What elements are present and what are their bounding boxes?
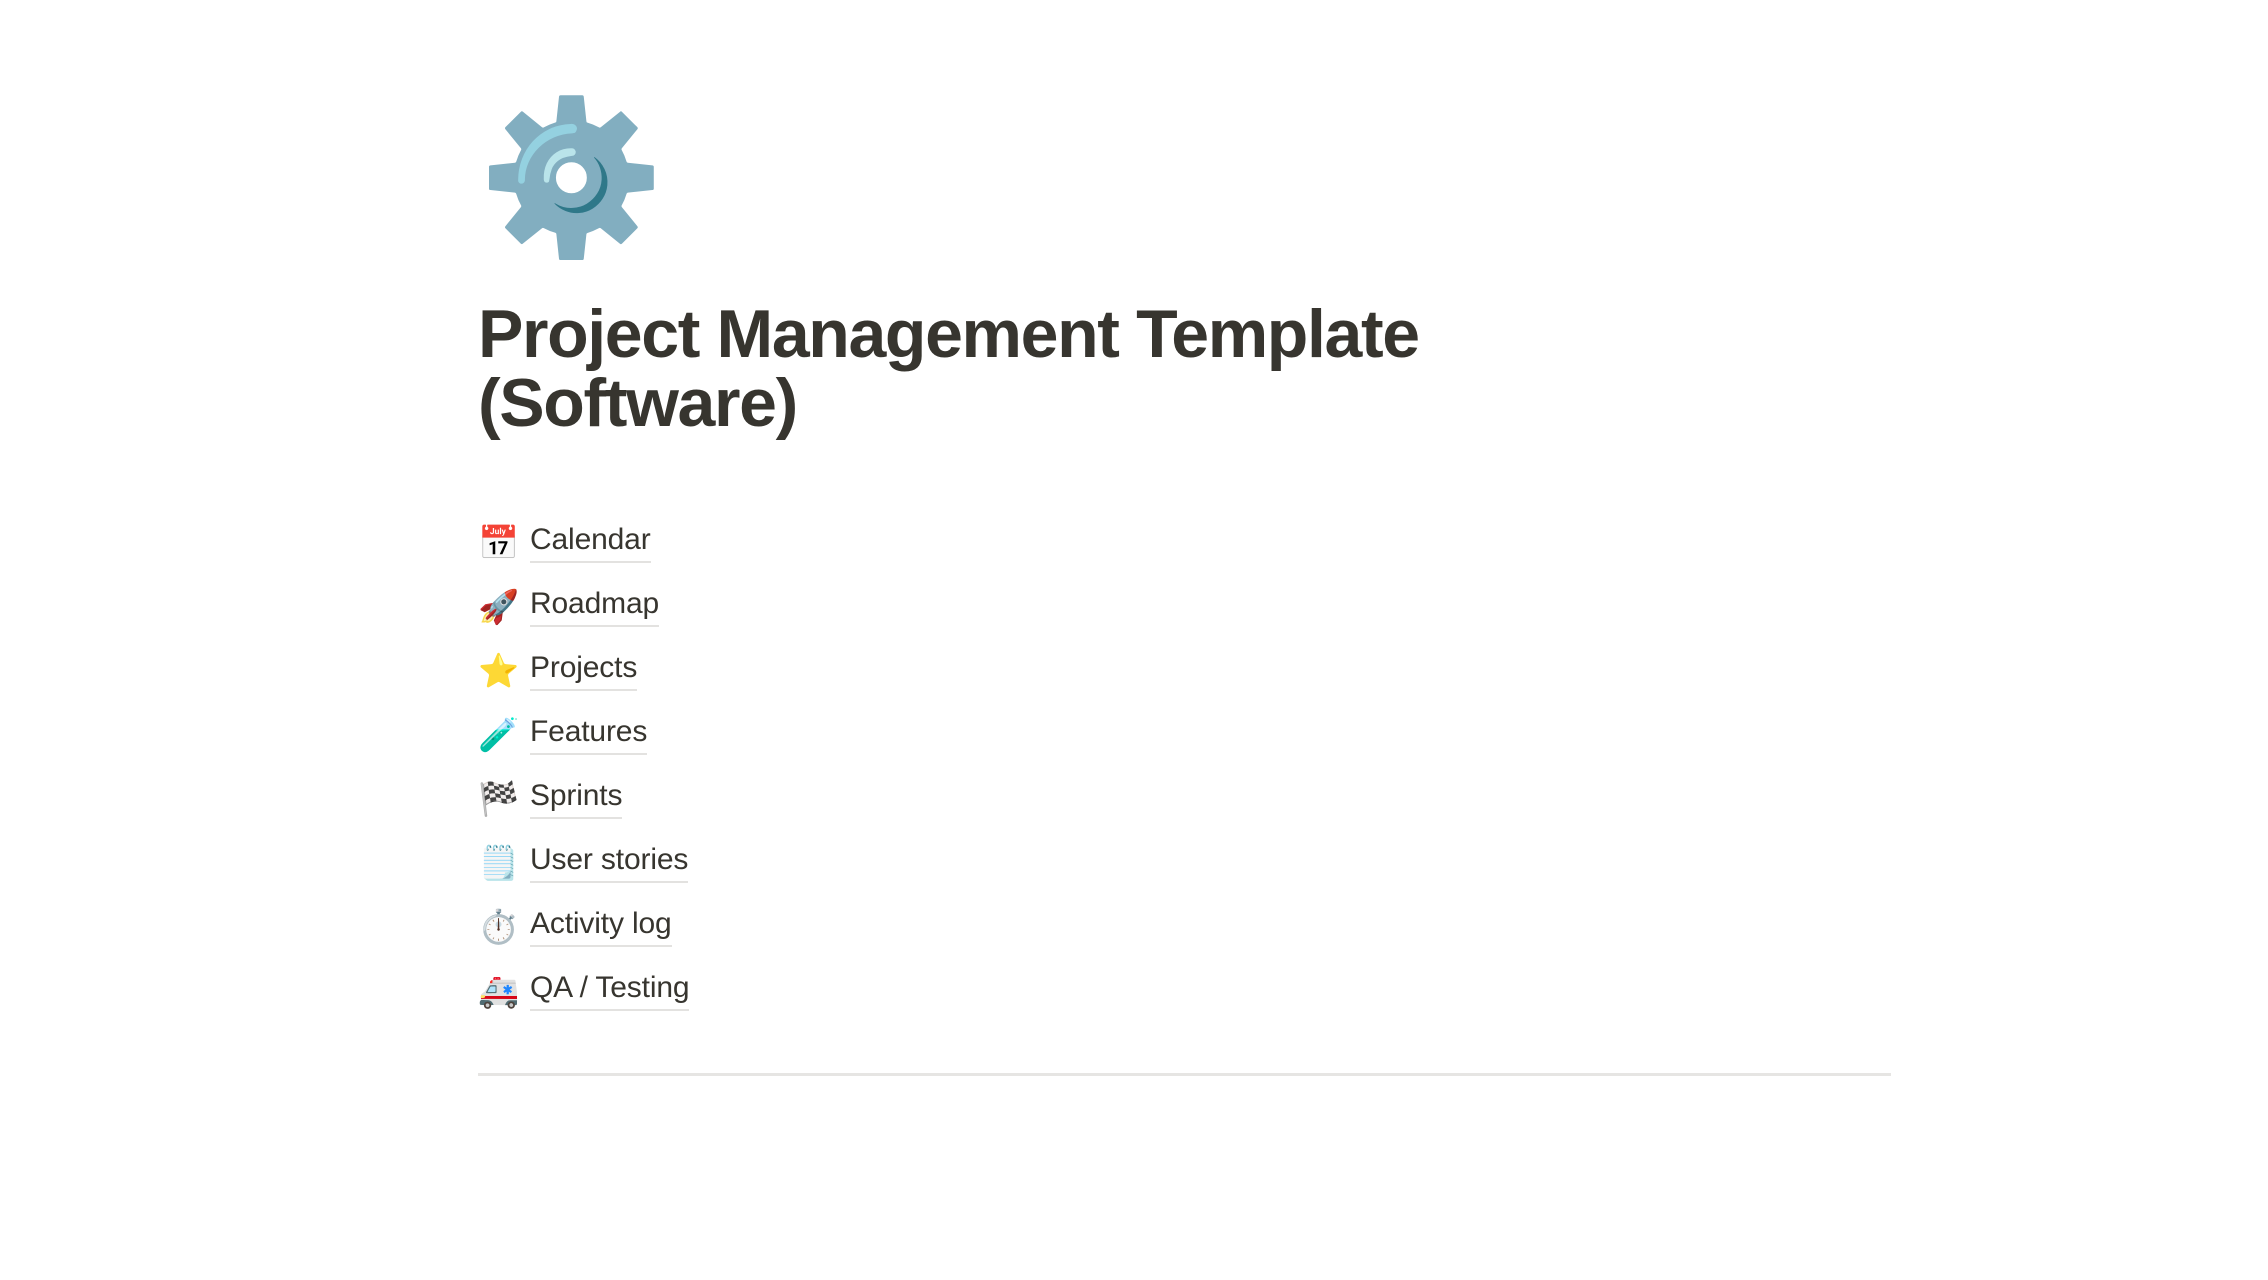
page-link-row[interactable]: 🧪Features (478, 703, 1891, 767)
page-link-row[interactable]: 🚀Roadmap (478, 575, 1891, 639)
star-emoji: ⭐ (478, 654, 514, 687)
notepad-emoji: 🗒️ (478, 846, 514, 879)
page-link-label[interactable]: Features (530, 714, 647, 755)
page-link-label[interactable]: Roadmap (530, 586, 659, 627)
page-link-row[interactable]: 🏁Sprints (478, 767, 1891, 831)
rocket-emoji: 🚀 (478, 590, 514, 623)
page-link-row[interactable]: ⏱️Activity log (478, 895, 1891, 959)
calendar-emoji: 📅 (478, 526, 514, 559)
page-link-list: 📅Calendar🚀Roadmap⭐Projects🧪Features🏁Spri… (478, 511, 1891, 1023)
chequered-flag-emoji: 🏁 (478, 782, 514, 815)
page-link-label[interactable]: Calendar (530, 522, 651, 563)
page-link-row[interactable]: ⭐Projects (478, 639, 1891, 703)
section-divider (478, 1073, 1891, 1076)
document-page: ⚙️ Project Management Template (Software… (0, 0, 2268, 1280)
page-link-label[interactable]: Sprints (530, 778, 622, 819)
page-link-label[interactable]: Projects (530, 650, 637, 691)
gear-emoji-icon[interactable]: ⚙️ (478, 96, 1891, 264)
ambulance-emoji: 🚑 (478, 974, 514, 1007)
stopwatch-emoji: ⏱️ (478, 910, 514, 943)
page-link-label[interactable]: User stories (530, 842, 688, 883)
page-link-row[interactable]: 🚑QA / Testing (478, 959, 1891, 1023)
page-link-row[interactable]: 🗒️User stories (478, 831, 1891, 895)
page-content-column: ⚙️ Project Management Template (Software… (478, 0, 1891, 1076)
page-link-label[interactable]: Activity log (530, 906, 672, 947)
test-tube-emoji: 🧪 (478, 718, 514, 751)
page-title[interactable]: Project Management Template (Software) (478, 300, 1628, 439)
page-link-label[interactable]: QA / Testing (530, 970, 689, 1011)
page-link-row[interactable]: 📅Calendar (478, 511, 1891, 575)
